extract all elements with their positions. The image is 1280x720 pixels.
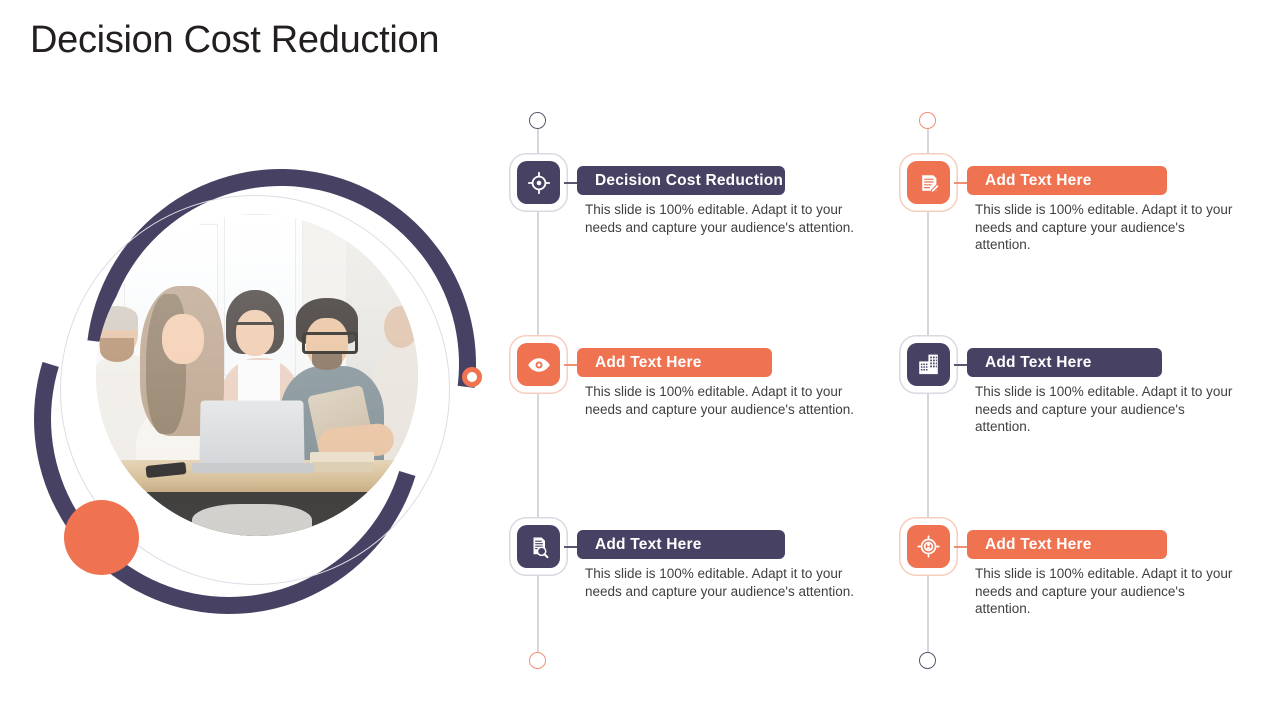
item-description: This slide is 100% editable. Adapt it to… — [975, 383, 1233, 436]
document-search-icon[interactable] — [513, 521, 564, 572]
buildings-icon[interactable] — [903, 339, 954, 390]
target-crosshair-icon[interactable] — [513, 157, 564, 208]
item-description: This slide is 100% editable. Adapt it to… — [585, 565, 855, 600]
decorative-solid-dot — [64, 500, 139, 575]
item-title: Add Text Here — [967, 166, 1167, 195]
document-edit-icon[interactable] — [903, 157, 954, 208]
timeline-endcap-top-1 — [529, 112, 546, 129]
item-title: Add Text Here — [577, 530, 785, 559]
content-column-2: Add Text Here This slide is 100% editabl… — [895, 0, 1280, 720]
item-description: This slide is 100% editable. Adapt it to… — [585, 383, 855, 418]
item-title: Decision Cost Reduction — [577, 166, 785, 195]
page-title: Decision Cost Reduction — [30, 18, 439, 64]
team-photo-visual — [34, 152, 494, 614]
timeline-endcap-bottom-1 — [529, 652, 546, 669]
item-description: This slide is 100% editable. Adapt it to… — [975, 201, 1233, 254]
team-photo — [96, 214, 418, 536]
item-description: This slide is 100% editable. Adapt it to… — [585, 201, 855, 236]
eye-icon[interactable] — [513, 339, 564, 390]
content-column-1: Decision Cost Reduction This slide is 10… — [505, 0, 895, 720]
timeline-endcap-bottom-2 — [919, 652, 936, 669]
item-description: This slide is 100% editable. Adapt it to… — [975, 565, 1233, 618]
target-person-icon[interactable] — [903, 521, 954, 572]
decorative-ring-dot — [462, 367, 482, 387]
item-title: Add Text Here — [967, 348, 1162, 377]
timeline-endcap-top-2 — [919, 112, 936, 129]
item-title: Add Text Here — [577, 348, 772, 377]
item-title: Add Text Here — [967, 530, 1167, 559]
